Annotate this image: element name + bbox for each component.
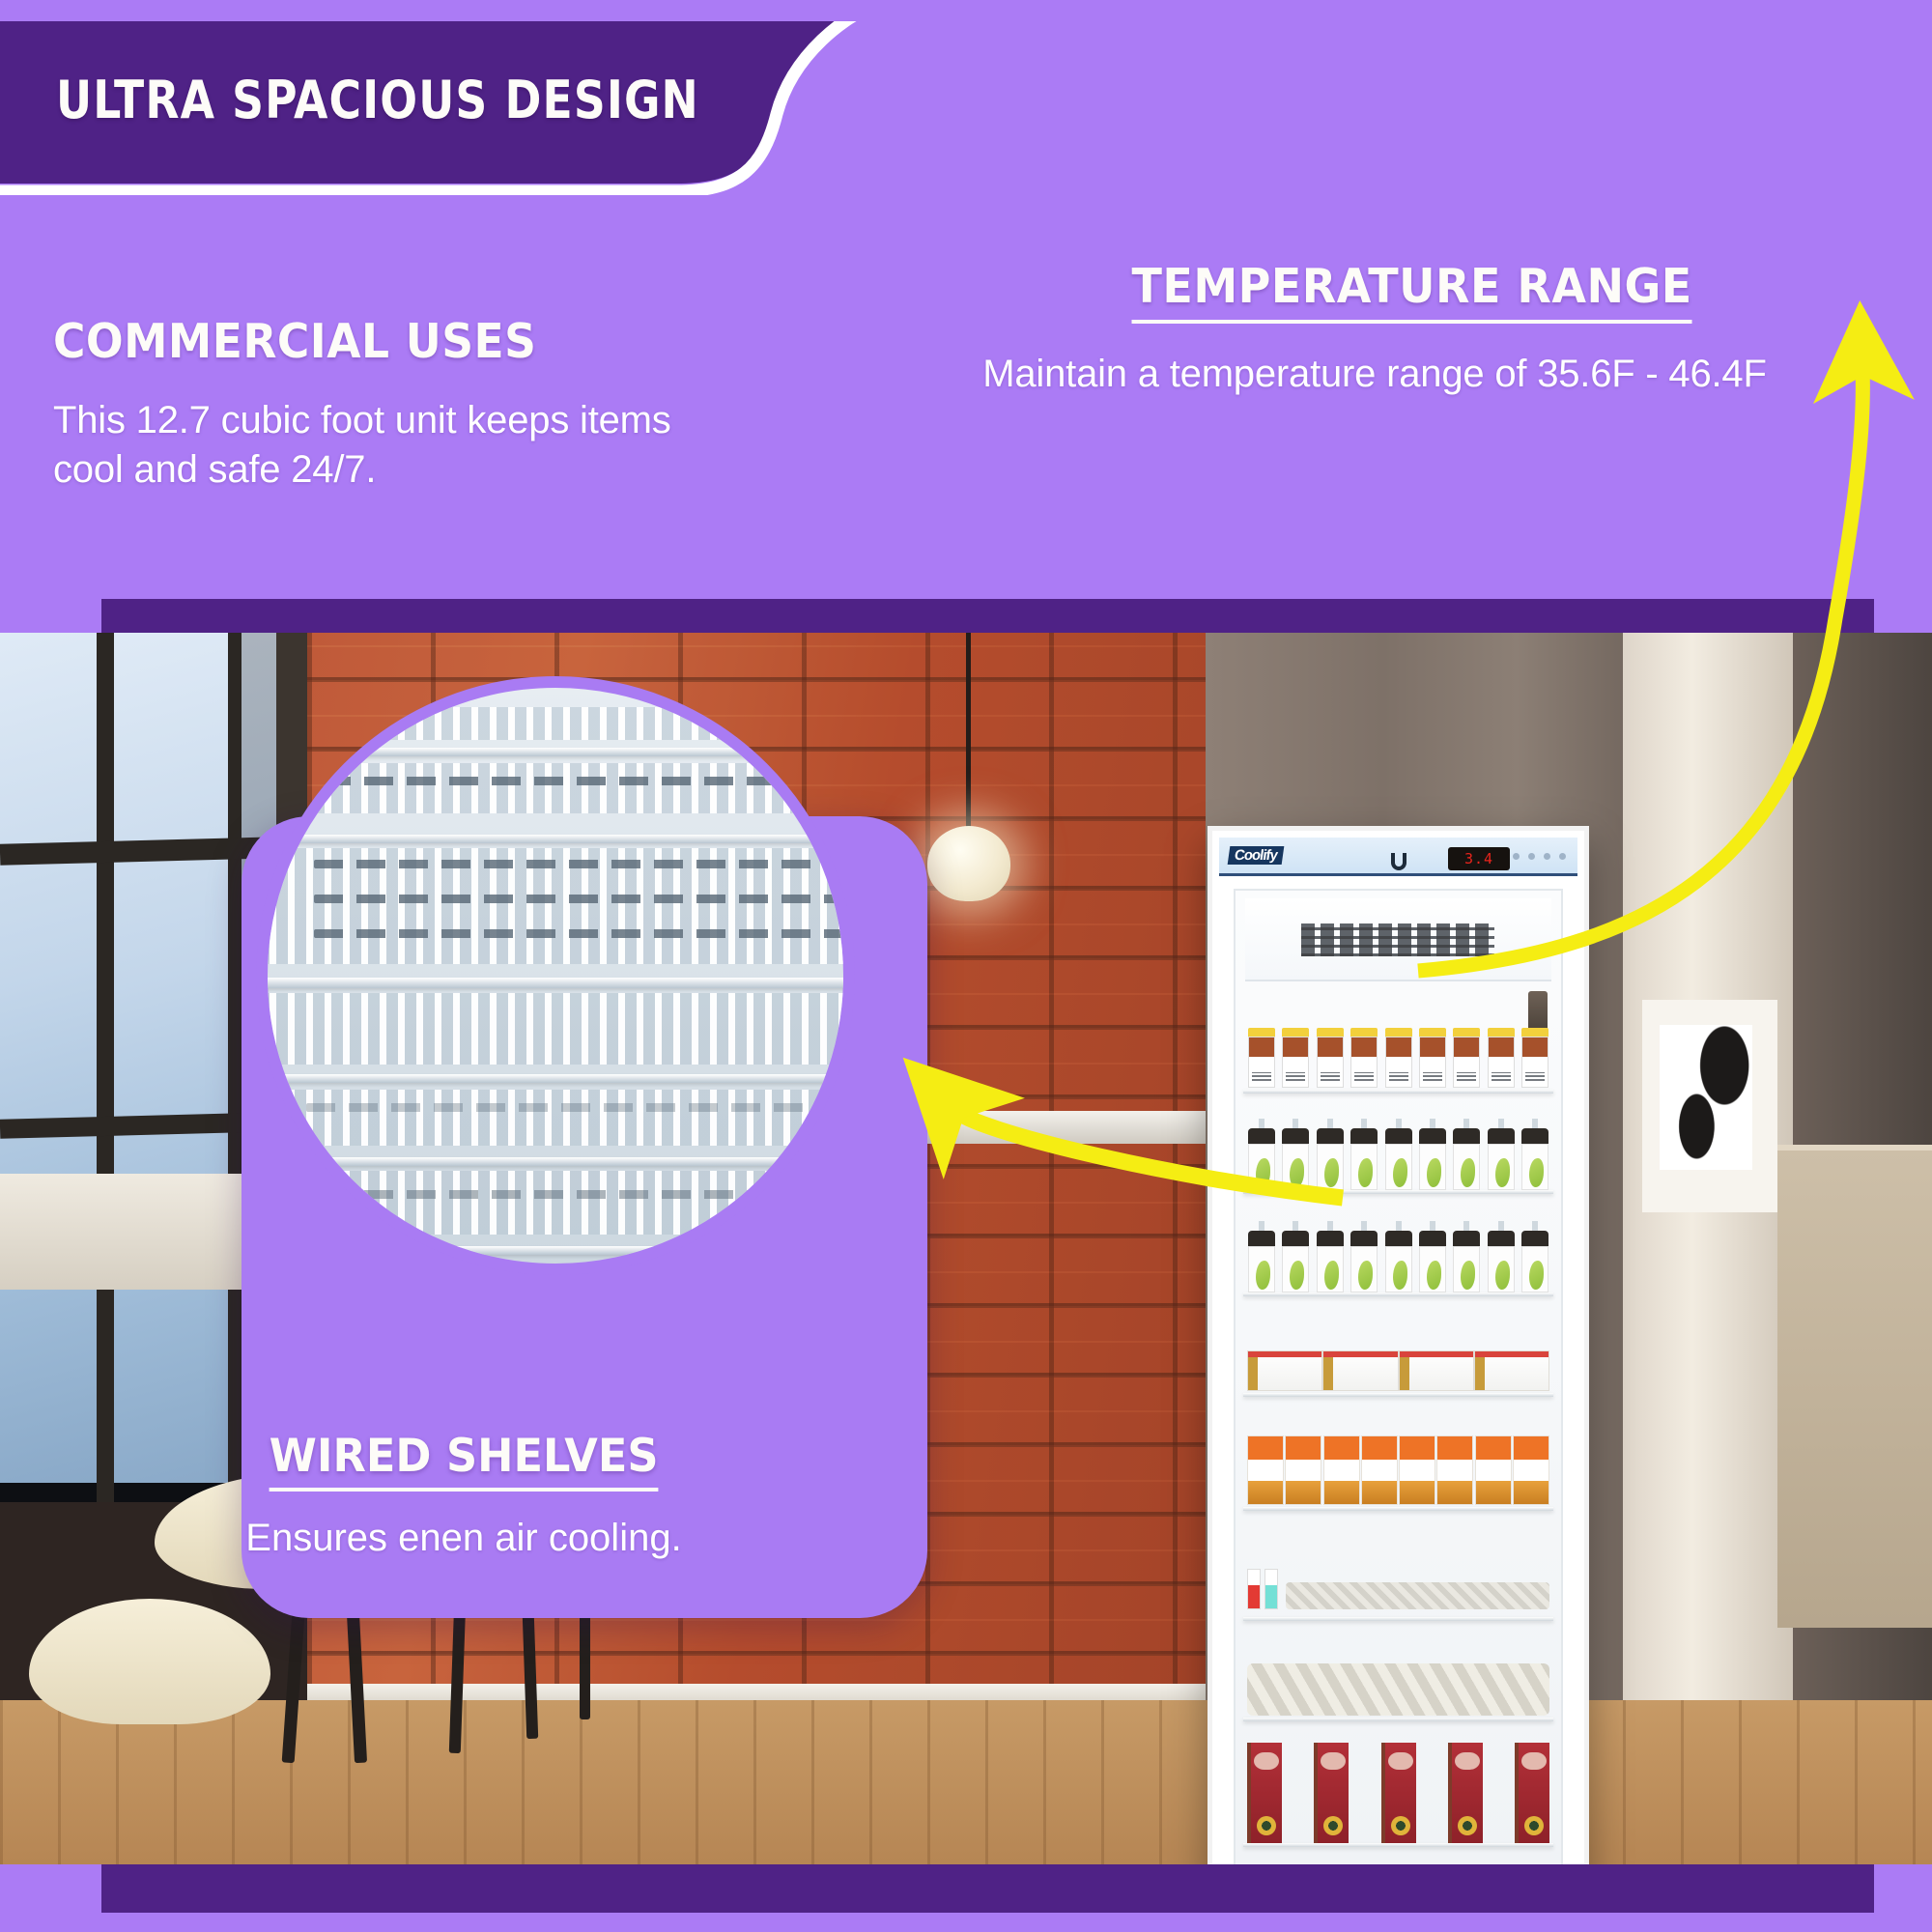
jar-product — [1418, 1028, 1447, 1088]
bottle-product — [1247, 1119, 1276, 1190]
fridge-control-panel[interactable]: Coolify 3.4 — [1219, 838, 1577, 876]
air-vent-panel — [1245, 898, 1551, 981]
carton-product — [1513, 1435, 1549, 1505]
pendant-lamp-icon — [927, 826, 1010, 901]
temperature-range-body: Maintain a temperature range of 35.6F - … — [900, 349, 1924, 399]
bottle-product — [1281, 1221, 1310, 1293]
jar-product — [1350, 1028, 1378, 1088]
shelf-rail — [1243, 1507, 1553, 1511]
red-box-product — [1247, 1743, 1282, 1843]
carton-product — [1323, 1435, 1360, 1505]
wired-shelves-closeup — [256, 676, 855, 1275]
shelf-vials — [1247, 1569, 1549, 1609]
window-mullion — [97, 633, 114, 1502]
bottle-product — [1316, 1119, 1345, 1190]
temperature-range-section: TEMPERATURE RANGE Maintain a temperature… — [900, 259, 1924, 399]
bottle-product — [1350, 1119, 1378, 1190]
box-product — [1247, 1350, 1322, 1391]
shelf-rail — [1243, 1843, 1553, 1847]
window-pane — [114, 633, 228, 1483]
wall-art-frame — [1642, 1000, 1777, 1212]
shelf-rail — [1243, 1190, 1553, 1194]
commercial-uses-section: COMMERCIAL USES This 12.7 cubic foot uni… — [53, 314, 729, 495]
window-pane — [0, 633, 97, 1483]
chair — [29, 1599, 270, 1724]
commercial-uses-heading: COMMERCIAL USES — [53, 314, 682, 369]
wall-shelf — [908, 1111, 1217, 1144]
window-mullion — [228, 633, 241, 1502]
control-button[interactable] — [1513, 853, 1520, 860]
wired-shelves-heading: WIRED SHELVES — [0, 1430, 927, 1492]
bottle-product — [1418, 1119, 1447, 1190]
bottle-product — [1418, 1221, 1447, 1293]
lamp-cord — [966, 633, 971, 840]
bottle-product — [1520, 1119, 1549, 1190]
jar-product — [1316, 1028, 1345, 1088]
wall-column — [1623, 633, 1797, 1864]
page-title: ULTRA SPACIOUS DESIGN — [56, 70, 699, 130]
temperature-range-heading: TEMPERATURE RANGE — [1132, 259, 1692, 324]
bottle-product — [1350, 1221, 1378, 1293]
jar-product — [1247, 1028, 1276, 1088]
carton-product — [1247, 1435, 1284, 1505]
bottle-product — [1452, 1119, 1481, 1190]
bottle-product — [1384, 1119, 1413, 1190]
control-buttons[interactable] — [1513, 853, 1566, 860]
shelf-rail — [1243, 1718, 1553, 1721]
vial-product — [1264, 1569, 1278, 1609]
bottle-product — [1316, 1221, 1345, 1293]
temperature-display: 3.4 — [1448, 847, 1510, 870]
door-handle-icon[interactable] — [1391, 853, 1406, 870]
bottle-product — [1487, 1221, 1516, 1293]
jar-product — [1520, 1028, 1549, 1088]
box-product — [1322, 1350, 1398, 1391]
table — [0, 1174, 241, 1290]
shelf-rail — [1243, 1090, 1553, 1094]
wired-shelves-body: Ensures enen air cooling. — [0, 1517, 927, 1560]
shelf-bottles-upper — [1247, 1119, 1549, 1190]
fridge-interior — [1234, 889, 1563, 1864]
bottle-product — [1384, 1221, 1413, 1293]
shelf-eggs — [1247, 1663, 1549, 1716]
bottle-product — [1520, 1221, 1549, 1293]
shelf-rail — [1243, 1617, 1553, 1621]
shelf-boxes — [1247, 1350, 1549, 1391]
jar-product — [1452, 1028, 1481, 1088]
bottle-product — [1487, 1119, 1516, 1190]
control-button[interactable] — [1528, 853, 1535, 860]
shelf-jars — [1247, 1028, 1549, 1088]
jar-product — [1281, 1028, 1310, 1088]
red-box-product — [1314, 1743, 1349, 1843]
shelf-rail — [1243, 1293, 1553, 1296]
shelf-closeup-photo — [268, 688, 843, 1264]
fridge-brand-logo: Coolify — [1228, 846, 1285, 865]
control-button[interactable] — [1559, 853, 1566, 860]
counter — [1777, 1145, 1932, 1628]
shelf-rail — [1243, 1393, 1553, 1397]
bottom-accent-bar — [101, 1864, 1874, 1913]
red-box-product — [1381, 1743, 1416, 1843]
packet-pile — [1286, 1582, 1549, 1609]
bottle-product — [1452, 1221, 1481, 1293]
carton-product — [1475, 1435, 1512, 1505]
egg-tray-pile — [1247, 1663, 1549, 1716]
vial-product — [1247, 1569, 1261, 1609]
carton-product — [1436, 1435, 1473, 1505]
commercial-refrigerator[interactable]: Coolify 3.4 — [1207, 826, 1589, 1864]
box-product — [1474, 1350, 1549, 1391]
jar-product — [1487, 1028, 1516, 1088]
carton-product — [1285, 1435, 1321, 1505]
top-accent-bar — [101, 599, 1874, 634]
shelf-red-boxes — [1247, 1743, 1549, 1843]
bottle-product — [1247, 1221, 1276, 1293]
box-product — [1399, 1350, 1474, 1391]
jar-product — [1384, 1028, 1413, 1088]
bottle-product — [1281, 1119, 1310, 1190]
shelf-orange-cartons — [1247, 1435, 1549, 1505]
carton-product — [1399, 1435, 1435, 1505]
red-box-product — [1448, 1743, 1483, 1843]
shelf-bottles-lower — [1247, 1221, 1549, 1293]
commercial-uses-body: This 12.7 cubic foot unit keeps items co… — [53, 396, 729, 495]
control-button[interactable] — [1544, 853, 1550, 860]
red-box-product — [1515, 1743, 1549, 1843]
carton-product — [1361, 1435, 1398, 1505]
